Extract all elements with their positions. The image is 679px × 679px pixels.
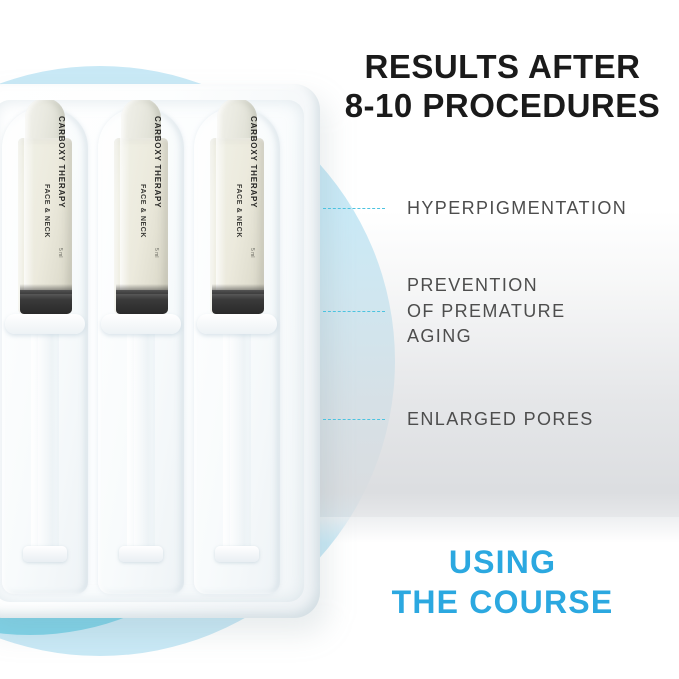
plunger-rod-cross <box>223 326 251 554</box>
dashed-leader-line <box>323 208 385 209</box>
product-photo-syringe-tray: CARBOXY THERAPY FACE & NECK 5 ml CARBOXY… <box>0 84 330 634</box>
syringe-volume-label: 5 ml <box>249 248 255 257</box>
syringe: CARBOXY THERAPY FACE & NECK 5 ml <box>16 100 74 330</box>
headline: RESULTS AFTER 8-10 PROCEDURES <box>330 48 675 126</box>
plunger-head <box>20 290 72 314</box>
syringe-brand-label: FACE & NECK <box>43 184 50 238</box>
plunger-thumb-pad <box>23 546 67 562</box>
footer-line-2: THE COURSE <box>330 583 675 623</box>
benefit-item-hyperpigmentation: HYPERPIGMENTATION <box>323 196 675 222</box>
syringe-volume-label: 5 ml <box>57 248 63 257</box>
promo-image-canvas: CARBOXY THERAPY FACE & NECK 5 ml CARBOXY… <box>0 0 679 679</box>
benefit-item-enlarged-pores: ENLARGED PORES <box>323 407 675 433</box>
benefit-label: PREVENTION OF PREMATURE AGING <box>407 273 565 350</box>
dashed-leader-line <box>323 311 385 312</box>
footer-callout: USING THE COURSE <box>330 543 675 622</box>
syringe: CARBOXY THERAPY FACE & NECK 5 ml <box>208 100 266 330</box>
benefit-label: HYPERPIGMENTATION <box>407 196 627 222</box>
footer-line-1: USING <box>449 544 556 580</box>
syringe-product-label: CARBOXY THERAPY <box>249 116 258 208</box>
plunger-head <box>116 290 168 314</box>
plunger-rod-cross <box>31 326 59 554</box>
plunger-thumb-pad <box>119 546 163 562</box>
plunger-thumb-pad <box>215 546 259 562</box>
headline-line-2: 8-10 PROCEDURES <box>330 87 675 126</box>
headline-line-1: RESULTS AFTER <box>365 48 641 85</box>
plunger-rod <box>230 326 244 554</box>
syringe: CARBOXY THERAPY FACE & NECK 5 ml <box>112 100 170 330</box>
tray-inner-cavity: CARBOXY THERAPY FACE & NECK 5 ml CARBOXY… <box>0 100 304 602</box>
tray-body: CARBOXY THERAPY FACE & NECK 5 ml CARBOXY… <box>0 84 320 618</box>
syringe-brand-label: FACE & NECK <box>139 184 146 238</box>
plunger-rod <box>134 326 148 554</box>
syringe-brand-label: FACE & NECK <box>235 184 242 238</box>
dashed-leader-line <box>323 419 385 420</box>
syringe-product-label: CARBOXY THERAPY <box>57 116 66 208</box>
syringe-volume-label: 5 ml <box>153 248 159 257</box>
syringe-product-label: CARBOXY THERAPY <box>153 116 162 208</box>
plunger-rod <box>38 326 52 554</box>
benefit-item-premature-aging: PREVENTION OF PREMATURE AGING <box>323 273 675 350</box>
plunger-head <box>212 290 264 314</box>
plunger-rod-cross <box>127 326 155 554</box>
benefit-label: ENLARGED PORES <box>407 407 594 433</box>
